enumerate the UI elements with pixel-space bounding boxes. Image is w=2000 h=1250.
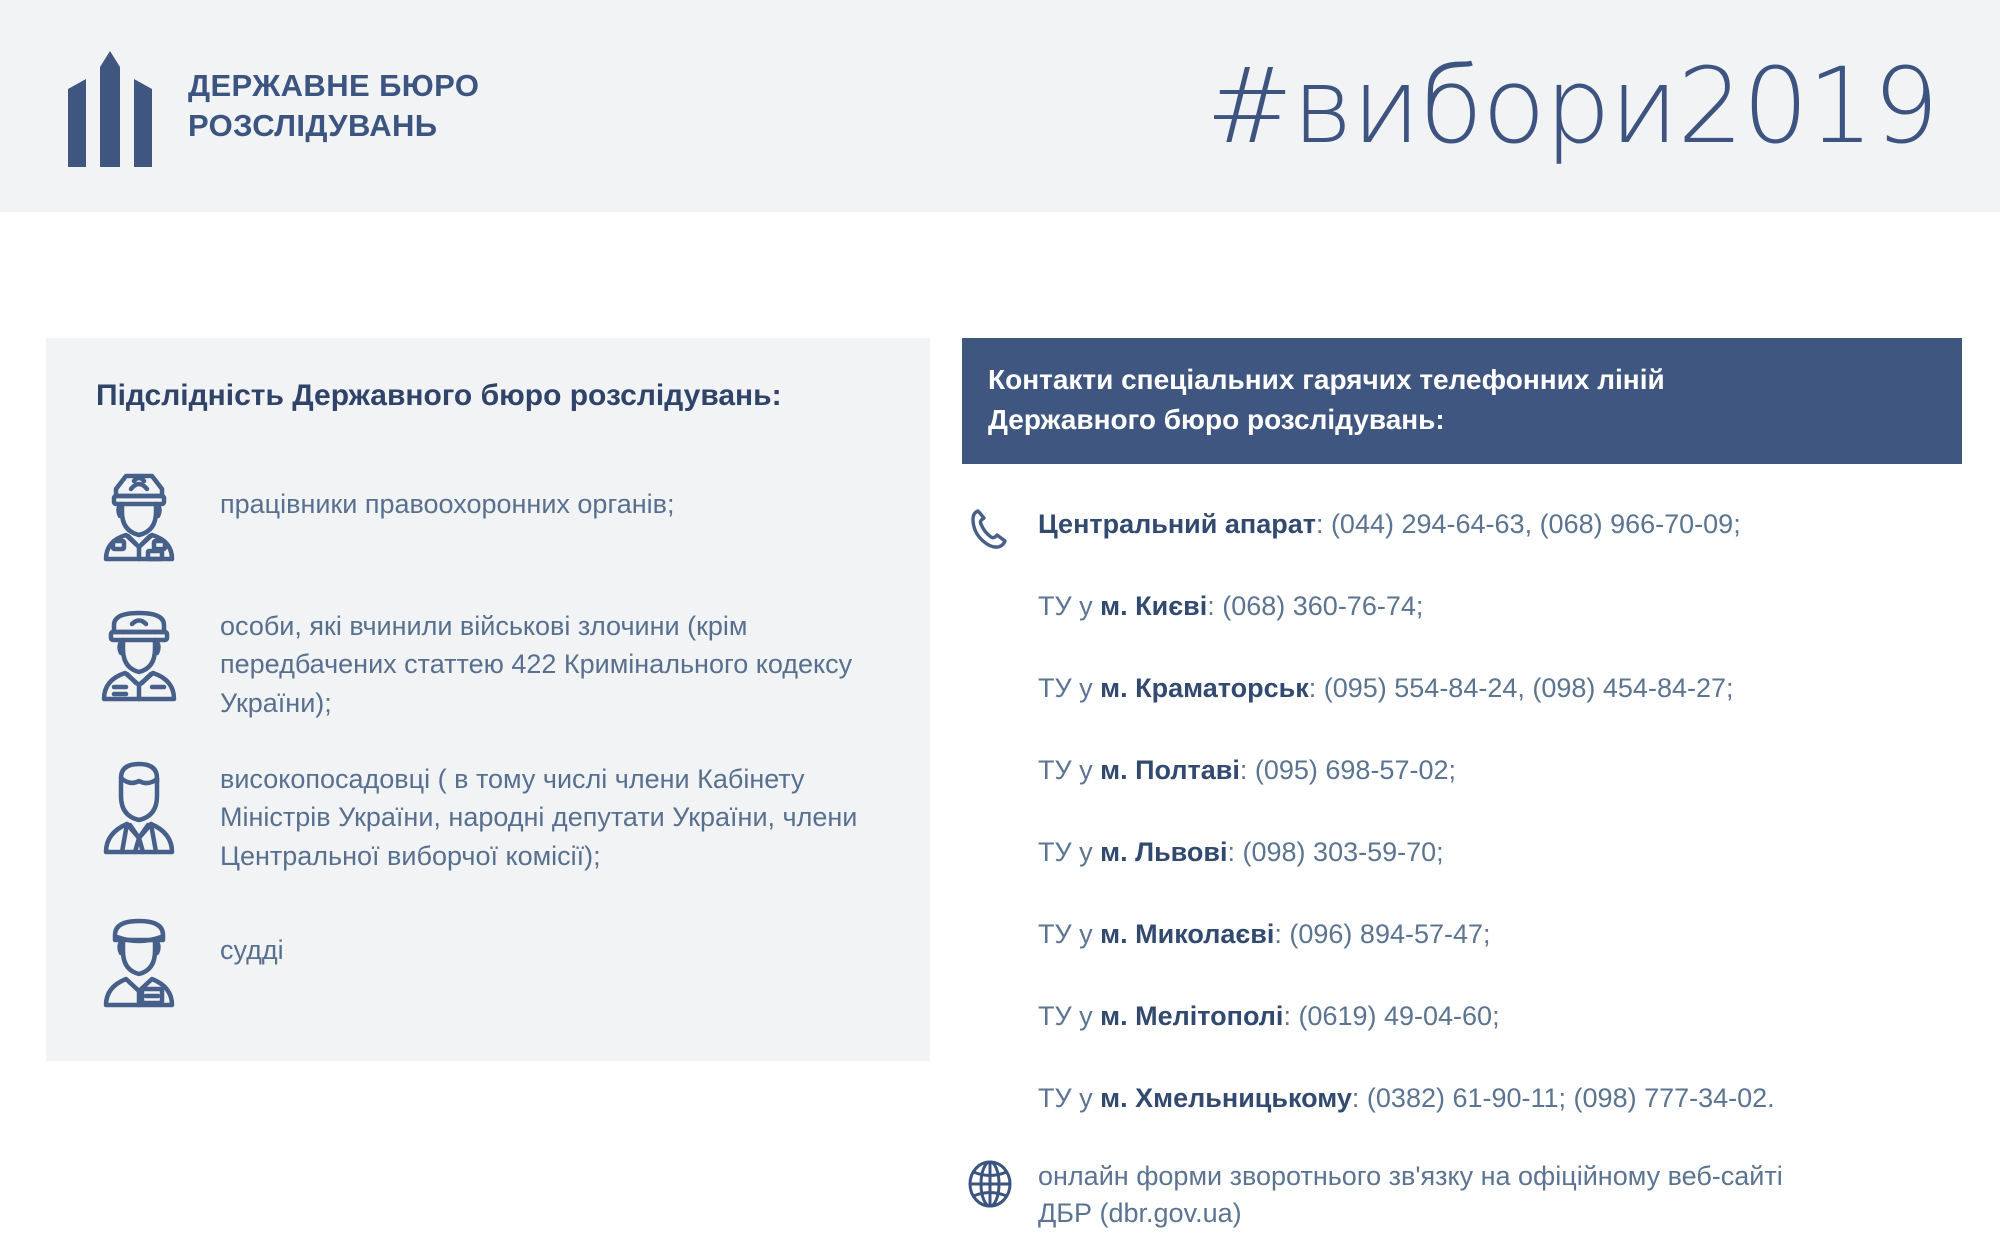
contact-row: ТУ у м. Краматорськ: (095) 554-84-24, (0… — [962, 664, 1962, 720]
contact-numbers: : (068) 360-76-74; — [1207, 591, 1423, 621]
jurisdiction-title: Підслідність Державного бюро розслідуван… — [80, 376, 896, 415]
list-item-label: судді — [220, 897, 284, 969]
police-officer-icon — [80, 451, 198, 569]
list-item: працівники правоохоронних органів; — [80, 451, 896, 569]
list-item: судді — [80, 897, 896, 1015]
list-item-label: працівники правоохоронних органів; — [220, 451, 674, 523]
globe-icon — [962, 1156, 1018, 1212]
contact-numbers: : (095) 698-57-02; — [1240, 755, 1456, 785]
contact-label: м. Львові — [1100, 837, 1227, 867]
jurisdiction-list: працівники правоохоронних органів; — [80, 451, 896, 1015]
contact-line: ТУ у м. Краматорськ: (095) 554-84-24, (0… — [1038, 664, 1734, 708]
online-line-1: онлайн форми зворотнього зв'язку на офіц… — [1038, 1161, 1783, 1191]
online-feedback-row: онлайн форми зворотнього зв'язку на офіц… — [962, 1156, 1962, 1234]
official-in-suit-icon — [80, 744, 198, 862]
contact-row: Центральний апарат: (044) 294-64-63, (06… — [962, 500, 1962, 556]
contact-label: Центральний апарат — [1038, 509, 1316, 539]
contact-prefix: ТУ у — [1038, 591, 1100, 621]
contact-numbers: : (096) 894-57-47; — [1274, 919, 1490, 949]
contact-line: ТУ у м. Києві: (068) 360-76-74; — [1038, 582, 1423, 626]
contacts-panel: Контакти спеціальних гарячих телефонних … — [962, 338, 1962, 1233]
list-item: особи, які вчинили військові злочини (кр… — [80, 591, 896, 722]
brand-name: ДЕРЖАВНЕ БЮРОРОЗСЛІДУВАНЬ — [188, 66, 479, 145]
list-item-label: високопосадовці ( в тому числі члени Каб… — [220, 744, 896, 875]
contact-numbers: : (098) 303-59-70; — [1228, 837, 1444, 867]
contact-prefix: ТУ у — [1038, 1001, 1100, 1031]
list-item: високопосадовці ( в тому числі члени Каб… — [80, 744, 896, 875]
contact-prefix: ТУ у — [1038, 1083, 1100, 1113]
contact-label: м. Хмельницькому — [1100, 1083, 1352, 1113]
contact-row: ТУ у м. Мелітополі: (0619) 49-04-60; — [962, 992, 1962, 1048]
contact-line: ТУ у м. Львові: (098) 303-59-70; — [1038, 828, 1444, 872]
online-feedback-text: онлайн форми зворотнього зв'язку на офіц… — [1038, 1156, 1783, 1234]
contact-label: м. Києві — [1100, 591, 1207, 621]
dbr-pillars-logo-icon — [62, 45, 158, 167]
page-header: ДЕРЖАВНЕ БЮРОРОЗСЛІДУВАНЬ #вибори2019 — [0, 0, 2000, 212]
phone-handset-icon — [962, 500, 1018, 556]
contact-prefix: ТУ у — [1038, 837, 1100, 867]
contact-line: ТУ у м. Полтаві: (095) 698-57-02; — [1038, 746, 1456, 790]
contact-numbers: : (0382) 61-90-11; (098) 777-34-02. — [1352, 1083, 1775, 1113]
contacts-list: Центральний апарат: (044) 294-64-63, (06… — [962, 464, 1962, 1234]
contacts-header: Контакти спеціальних гарячих телефонних … — [962, 338, 1962, 464]
contact-label: м. Краматорськ — [1100, 673, 1309, 703]
military-officer-icon — [80, 591, 198, 709]
contact-line: ТУ у м. Миколаєві: (096) 894-57-47; — [1038, 910, 1491, 954]
contacts-header-line-1: Контакти спеціальних гарячих телефонних … — [988, 364, 1665, 395]
contact-row: ТУ у м. Хмельницькому: (0382) 61-90-11; … — [962, 1074, 1962, 1130]
contact-line: ТУ у м. Хмельницькому: (0382) 61-90-11; … — [1038, 1074, 1775, 1118]
brand-line-1: ДЕРЖАВНЕ БЮРО — [188, 68, 479, 103]
contact-label: м. Полтаві — [1100, 755, 1240, 785]
contact-prefix: ТУ у — [1038, 755, 1100, 785]
contact-numbers: : (095) 554-84-24, (098) 454-84-27; — [1309, 673, 1734, 703]
brand-line-2: РОЗСЛІДУВАНЬ — [188, 108, 437, 143]
contact-label: м. Мелітополі — [1100, 1001, 1283, 1031]
campaign-hashtag: #вибори2019 — [1206, 54, 1938, 158]
contact-line: ТУ у м. Мелітополі: (0619) 49-04-60; — [1038, 992, 1500, 1036]
contact-row: ТУ у м. Львові: (098) 303-59-70; — [962, 828, 1962, 884]
online-line-2: ДБР (dbr.gov.ua) — [1038, 1198, 1242, 1228]
contact-numbers: : (0619) 49-04-60; — [1283, 1001, 1499, 1031]
contact-prefix: ТУ у — [1038, 919, 1100, 949]
brand-block: ДЕРЖАВНЕ БЮРОРОЗСЛІДУВАНЬ — [62, 45, 479, 167]
contact-row: ТУ у м. Полтаві: (095) 698-57-02; — [962, 746, 1962, 802]
contacts-header-line-2: Державного бюро розслідувань: — [988, 404, 1445, 435]
list-item-label: особи, які вчинили військові злочини (кр… — [220, 591, 896, 722]
contact-numbers: : (044) 294-64-63, (068) 966-70-09; — [1316, 509, 1741, 539]
contact-row: ТУ у м. Миколаєві: (096) 894-57-47; — [962, 910, 1962, 966]
jurisdiction-panel: Підслідність Державного бюро розслідуван… — [46, 338, 930, 1061]
contact-line: Центральний апарат: (044) 294-64-63, (06… — [1038, 500, 1741, 544]
infographic-page: ДЕРЖАВНЕ БЮРОРОЗСЛІДУВАНЬ #вибори2019 Пі… — [0, 0, 2000, 1250]
judge-icon — [80, 897, 198, 1015]
contact-label: м. Миколаєві — [1100, 919, 1274, 949]
contact-prefix: ТУ у — [1038, 673, 1100, 703]
contact-row: ТУ у м. Києві: (068) 360-76-74; — [962, 582, 1962, 638]
